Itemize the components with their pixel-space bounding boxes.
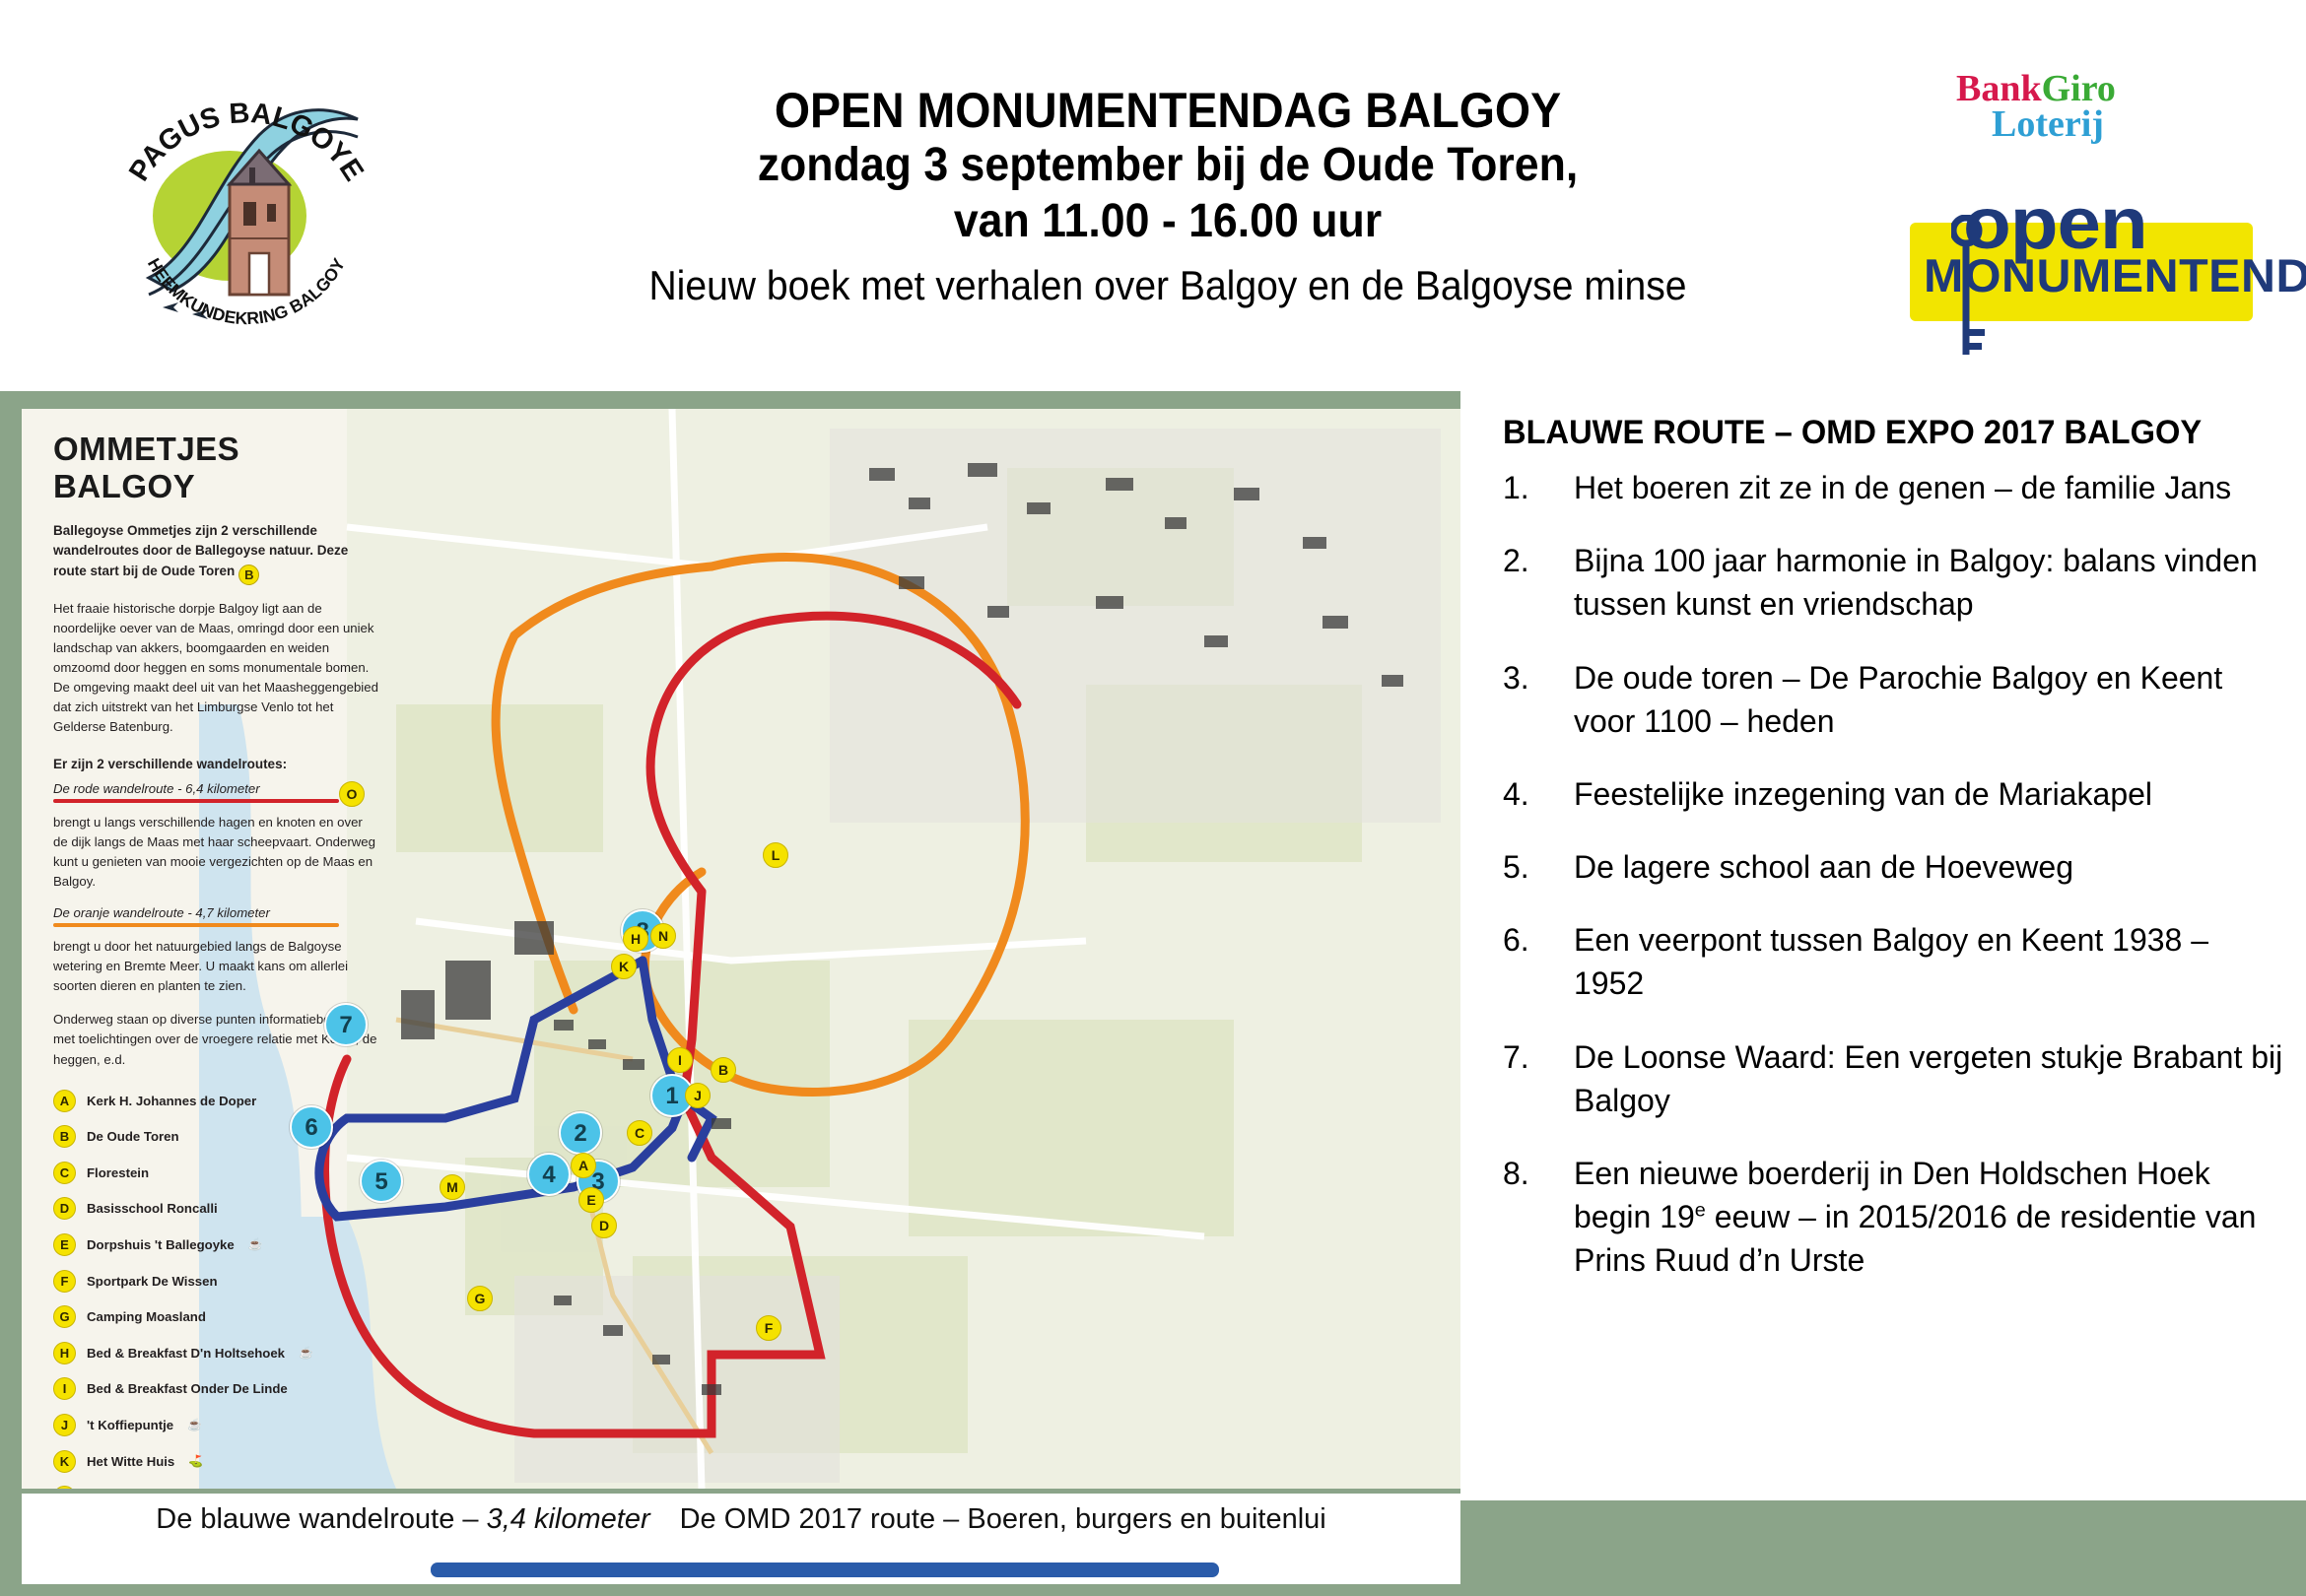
caption-row: De blauwe wandelroute – 3,4 kilometerDe … [22,1503,1460,1536]
list-item[interactable]: FSportpark De Wissen [53,1270,378,1293]
list-item[interactable]: 7. De Loonse Waard: Een vergeten stukje … [1503,1035,2291,1122]
poi-name-k: Het Witte Huis [87,1454,174,1469]
item-text-4: Feestelijke inzegening van de Mariakapel [1574,772,2283,816]
bankgiro-part3: Loterij [1956,106,2116,142]
flag-icon: ⛳ [188,1454,203,1468]
map-stop-7[interactable]: 7 [324,1003,368,1046]
list-item[interactable]: AKerk H. Johannes de Doper [53,1090,378,1112]
item-number-6: 6. [1503,918,1574,1005]
red-route-rule [53,799,339,803]
poi-list: AKerk H. Johannes de Doper BDe Oude Tore… [53,1090,378,1489]
item-number-8: 8. [1503,1152,1574,1282]
page-title: BLAUWE ROUTE – OMD EXPO 2017 BALGOY [1503,414,2260,452]
map-marker-i[interactable]: I [667,1047,693,1073]
map-marker-d[interactable]: D [591,1213,617,1238]
poi-pin-j: J [53,1414,76,1436]
poi-pin-f: F [53,1270,76,1293]
pagus-balgoye-logo-svg: PAGUS BALGOYE HEEMKUNDEKRING BALGOY [103,66,389,352]
map-marker-o[interactable]: O [339,781,365,807]
list-item[interactable]: 6. Een veerpont tussen Balgoy en Keent 1… [1503,918,2291,1005]
legend-title: OMMETJES BALGOY [53,431,378,505]
item-text-8: Een nieuwe boerderij in Den Holdschen Ho… [1574,1152,2283,1282]
list-item[interactable]: LElshof Fruit⛳ [53,1486,378,1489]
blue-route-prefix: De blauwe wandelroute – [156,1503,486,1535]
header-subtitle: Nieuw boek met verhalen over Balgoy en d… [595,261,1741,310]
map-marker-a[interactable]: A [571,1153,596,1178]
title-line-1: OPEN MONUMENTENDAG BALGOY [595,83,1741,138]
list-item[interactable]: J't Koffiepuntje☕ [53,1414,378,1436]
list-item[interactable]: 8. Een nieuwe boerderij in Den Holdschen… [1503,1152,2291,1282]
coffee-icon: ☕ [299,1346,313,1360]
pagus-balgoye-logo: PAGUS BALGOYE HEEMKUNDEKRING BALGOY [103,66,389,352]
omd-word-monumentendag: MONUMENTENDAG [1924,252,2306,299]
list-item[interactable]: EDorpshuis 't Ballegoyke☕ [53,1233,378,1256]
list-item[interactable]: CFlorestein [53,1162,378,1184]
blue-route-distance: 3,4 kilometer [487,1503,650,1535]
poi-name-j: 't Koffiepuntje [87,1418,173,1432]
legend-description: Het fraaie historische dorpje Balgoy lig… [53,599,378,737]
item-number-7: 7. [1503,1035,1574,1122]
poi-pin-l: L [53,1486,76,1489]
poi-pin-c: C [53,1162,76,1184]
poi-pin-b: B [53,1125,76,1148]
list-item[interactable]: HBed & Breakfast D'n Holtsehoek☕ [53,1342,378,1364]
coffee-icon: ☕ [248,1237,263,1251]
title-line-2: zondag 3 september bij de Oude Toren, [595,138,1741,194]
list-item[interactable]: 5. De lagere school aan de Hoeveweg [1503,845,2291,889]
orange-route-rule [53,923,339,927]
title-line-3: van 11.00 - 16.00 uur [595,194,1741,250]
map-stop-5[interactable]: 5 [360,1160,403,1203]
item-text-2: Bijna 100 jaar harmonie in Balgoy: balan… [1574,539,2283,626]
top-white-strip [0,0,2306,12]
map-marker-f[interactable]: F [756,1315,781,1341]
poi-name-h: Bed & Breakfast D'n Holtsehoek [87,1346,285,1361]
poi-name-e: Dorpshuis 't Ballegoyke [87,1237,235,1252]
map-marker-b[interactable]: B [711,1057,736,1083]
map-marker-e[interactable]: E [578,1187,604,1213]
map-legend: OMMETJES BALGOY Ballegoyse Ommetjes zijn… [53,431,378,1489]
poi-pin-d: D [53,1197,76,1220]
legend-intro: Ballegoyse Ommetjes zijn 2 verschillende… [53,521,378,585]
poi-pin-i: I [53,1377,76,1400]
item-number-3: 3. [1503,656,1574,743]
list-item[interactable]: 3. De oude toren – De Parochie Balgoy en… [1503,656,2291,743]
map-marker-m[interactable]: M [440,1174,465,1200]
item-number-4: 4. [1503,772,1574,816]
item-number-5: 5. [1503,845,1574,889]
bankgiro-loterij-logo: BankGiro Loterij [1956,71,2116,142]
expo-list-panel: BLAUWE ROUTE – OMD EXPO 2017 BALGOY 1. H… [1483,394,2291,1497]
list-item[interactable]: GCamping Moasland [53,1305,378,1328]
item-text-7: De Loonse Waard: Een vergeten stukje Bra… [1574,1035,2283,1122]
map-stop-4[interactable]: 4 [527,1153,571,1196]
map-stop-6[interactable]: 6 [290,1105,333,1149]
item-text-6: Een veerpont tussen Balgoy en Keent 1938… [1574,918,2283,1005]
map-caption: De blauwe wandelroute – 3,4 kilometerDe … [22,1494,1460,1584]
poi-pin-a: A [53,1090,76,1112]
legend-start-pin: B [238,565,259,585]
poi-name-g: Camping Moasland [87,1309,206,1324]
expo-items-list: 1. Het boeren zit ze in de genen – de fa… [1503,466,2291,1282]
item-text-1: Het boeren zit ze in de genen – de famil… [1574,466,2283,509]
map-marker-g[interactable]: G [467,1286,493,1311]
map-marker-c[interactable]: C [627,1120,652,1146]
poi-pin-h: H [53,1342,76,1364]
legend-orange-route-text: brengt u door het natuurgebied langs de … [53,937,378,996]
header-title-block: OPEN MONUMENTENDAG BALGOY zondag 3 septe… [552,83,1784,311]
item-text-5: De lagere school aan de Hoeveweg [1574,845,2283,889]
list-item[interactable]: IBed & Breakfast Onder De Linde [53,1377,378,1400]
legend-red-route-title: De rode wandelroute - 6,4 kilometer [53,781,378,796]
legend-routes-header: Er zijn 2 verschillende wandelroutes: [53,757,378,771]
item-text-3: De oude toren – De Parochie Balgoy en Ke… [1574,656,2283,743]
list-item[interactable]: 2. Bijna 100 jaar harmonie in Balgoy: ba… [1503,539,2291,626]
list-item[interactable]: DBasisschool Roncalli [53,1197,378,1220]
route-map[interactable]: OMMETJES BALGOY Ballegoyse Ommetjes zijn… [22,409,1460,1489]
poi-name-f: Sportpark De Wissen [87,1274,218,1289]
sponsor-logos: BankGiro Loterij open MONUMENTENDAG [1902,71,2257,376]
poi-name-b: De Oude Toren [87,1129,179,1144]
map-marker-h[interactable]: H [623,926,648,952]
poi-name-c: Florestein [87,1165,149,1180]
omd-route-caption: De OMD 2017 route – Boeren, burgers en b… [680,1503,1326,1535]
map-stop-2[interactable]: 2 [559,1111,602,1155]
open-monumentendag-logo: open MONUMENTENDAG [1902,189,2257,357]
map-marker-k[interactable]: K [611,954,637,979]
legend-intro-text: Ballegoyse Ommetjes zijn 2 verschillende… [53,523,348,578]
poster-header: PAGUS BALGOYE HEEMKUNDEKRING BALGOY OPEN… [0,12,2306,391]
legend-red-route-text: brengt u langs verschillende hagen en kn… [53,813,378,892]
list-item[interactable]: KHet Witte Huis⛳ [53,1450,378,1473]
legend-orange-route-title: De oranje wandelroute - 4,7 kilometer [53,905,378,920]
poi-name-i: Bed & Breakfast Onder De Linde [87,1381,288,1396]
poi-name-a: Kerk H. Johannes de Doper [87,1094,256,1108]
map-marker-n[interactable]: N [650,923,676,949]
list-item[interactable]: 4. Feestelijke inzegening van de Mariaka… [1503,772,2291,816]
map-marker-l[interactable]: L [763,842,788,868]
poi-pin-e: E [53,1233,76,1256]
poster-page: PAGUS BALGOYE HEEMKUNDEKRING BALGOY OPEN… [0,0,2306,1596]
poi-name-d: Basisschool Roncalli [87,1201,218,1216]
poi-pin-g: G [53,1305,76,1328]
map-marker-j[interactable]: J [685,1083,711,1108]
poi-pin-k: K [53,1450,76,1473]
blue-route-bar [431,1563,1219,1577]
item-number-2: 2. [1503,539,1574,626]
item-number-1: 1. [1503,466,1574,509]
coffee-icon: ☕ [187,1418,202,1431]
list-item[interactable]: 1. Het boeren zit ze in de genen – de fa… [1503,466,2291,509]
